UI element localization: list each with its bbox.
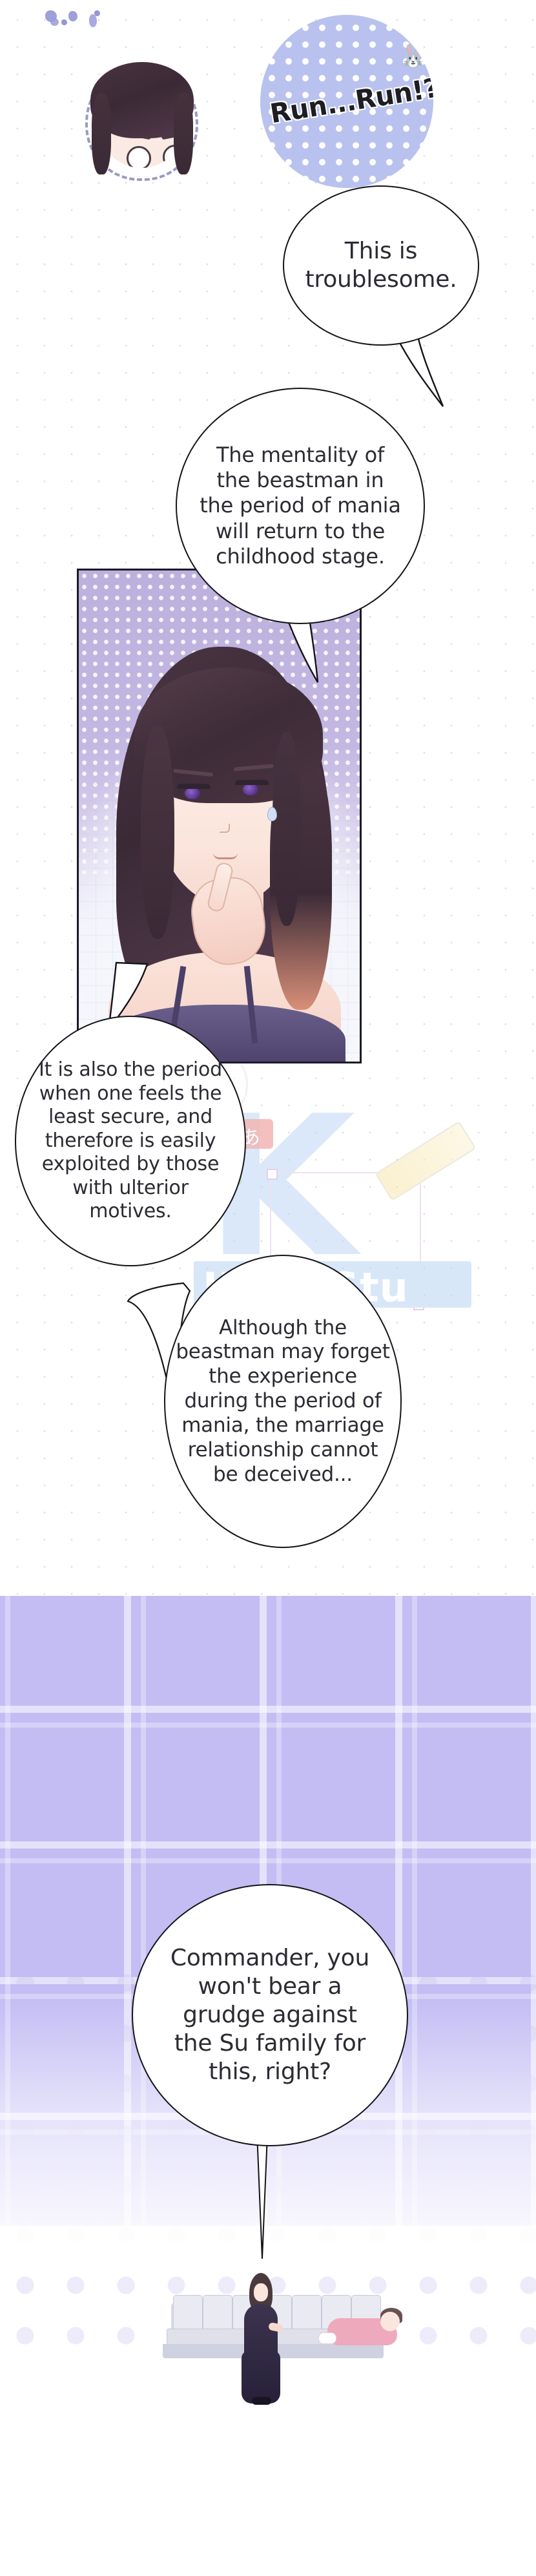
sweat-drop-icon [267,807,277,821]
chibi-hair-strand-left [92,93,111,174]
character-eyelid-right [235,780,269,785]
speech-bubble-commander: Commander, you won't bear a grudge again… [132,1884,408,2146]
speech-tail-commander [245,2132,297,2261]
sofa-cushion [173,2295,203,2334]
watermark-handle [413,1299,424,1310]
character-nose [220,824,230,833]
standing-woman-shoes [252,2397,271,2405]
watermark-pencil-icon [375,1121,476,1201]
confetti-blob [94,10,100,16]
character-hair-lock-left [141,726,174,939]
speech-bubble-although-text: Although the beastman may forget the exp… [170,1316,395,1487]
run-speech-circle: 🐰 Run...Run!? [260,15,433,188]
watermark-handle [413,1169,424,1180]
run-text: Run...Run!? [268,74,432,130]
comic-panel-1: 🐰 Run...Run!? [0,0,536,1595]
reclining-figure-head [380,2312,400,2331]
speech-bubble-troublesome-text: This is troublesome. [300,237,462,294]
standing-woman-face [254,2283,268,2301]
character-eye-left [177,784,211,800]
comic-page: 🐰 Run...Run!? [0,0,536,2576]
chibi-eye-left [127,146,151,168]
sofa-scene [0,2261,536,2468]
reclining-figure [313,2317,397,2352]
confetti-blob [68,11,77,21]
sofa-cushion [203,2295,232,2334]
character-iris-right [243,784,258,795]
bunny-icon: 🐰 [400,43,427,69]
speech-bubble-troublesome: This is troublesome. [283,185,479,346]
standing-woman [240,2273,280,2402]
speech-bubble-secure: It is also the period when one feels the… [15,1016,246,1266]
speech-bubble-commander-text: Commander, you won't bear a grudge again… [165,1944,375,2086]
character-hair-lock-right [273,732,301,926]
character-mouth [213,852,238,859]
chibi-shocked-character [85,65,198,181]
speech-bubble-mentality-text: The mentality of the beastman in the per… [194,443,406,569]
character-eye-right [235,780,269,796]
confetti-blob [50,18,59,26]
confetti-blob [61,19,67,25]
chibi-hair-strand-right [174,93,193,174]
character-eyelid-left [177,784,211,789]
speech-bubble-secure-text: It is also the period when one feels the… [34,1058,227,1224]
reclining-figure-feet [318,2332,336,2344]
character-iris-left [185,788,200,799]
speech-bubble-although: Although the beastman may forget the exp… [164,1255,402,1548]
watermark-handle [267,1169,278,1180]
standing-woman-skirt [242,2351,280,2403]
speech-bubble-mentality: The mentality of the beastman in the per… [176,388,425,624]
confetti-blob [89,14,97,27]
